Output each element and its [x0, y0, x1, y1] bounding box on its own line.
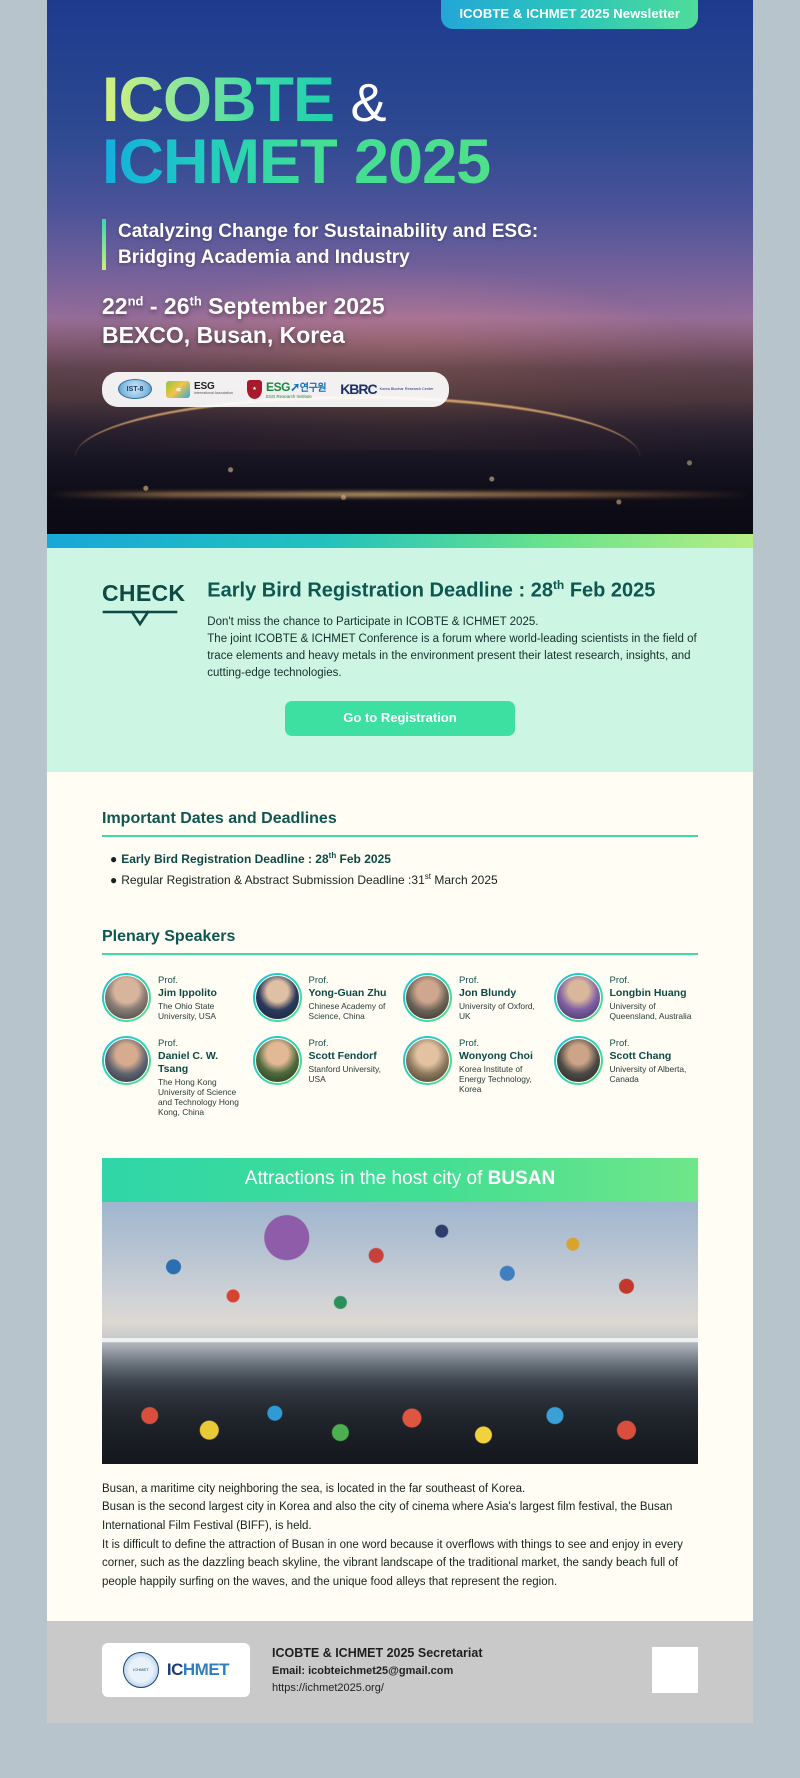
- kbrc-logo: KBRC Korea Biochar Research Center: [340, 381, 433, 397]
- ist-8-logo-mark: IST-8: [118, 379, 152, 399]
- kbrc-sub: Korea Biochar Research Center: [380, 387, 434, 392]
- hero-title-ampersand: &: [351, 73, 386, 133]
- hero-date-venue: 22nd - 26th September 2025 BEXCO, Busan,…: [102, 292, 753, 350]
- speaker-prefix: Prof.: [158, 1038, 247, 1050]
- speaker-prefix: Prof.: [610, 975, 699, 987]
- hero-title-line2: ICHMET 2025: [102, 132, 753, 194]
- attractions-paragraph: Busan, a maritime city neighboring the s…: [102, 1464, 698, 1592]
- busan-festival-photo: [102, 1202, 698, 1464]
- hero-title-icobte: ICOBTE: [102, 65, 334, 135]
- plenary-speakers-heading: Plenary Speakers: [102, 928, 698, 955]
- date-item-tail: March 2025: [431, 873, 498, 887]
- esg-association-swoosh-icon: ∝: [166, 381, 190, 398]
- early-bird-deadline-title: Early Bird Registration Deadline : 28th …: [207, 578, 698, 603]
- speaker-affiliation: University of Oxford, UK: [459, 1001, 548, 1022]
- check-body-line2: The joint ICOBTE & ICHMET Conference is …: [207, 631, 698, 683]
- bullet-icon: ●: [110, 852, 117, 866]
- hero-content: ICOBTE & ICHMET 2025 Catalyzing Change f…: [47, 0, 753, 407]
- ichmet-seal-icon: ICHMET: [123, 1652, 159, 1688]
- avatar: [554, 1036, 603, 1085]
- speaker-card[interactable]: Prof. Scott Fendorf Stanford University,…: [253, 1036, 398, 1117]
- check-row: CHECK Early Bird Registration Deadline :…: [102, 578, 698, 683]
- speaker-name: Daniel C. W. Tsang: [158, 1050, 247, 1076]
- go-to-registration-button[interactable]: Go to Registration: [285, 701, 515, 736]
- important-dates-heading: Important Dates and Deadlines: [102, 810, 698, 837]
- attractions-line3: It is difficult to define the attraction…: [102, 1536, 698, 1592]
- speaker-info: Prof. Scott Chang University of Alberta,…: [610, 1036, 699, 1084]
- check-tick-icon: [102, 609, 178, 627]
- avatar: [102, 1036, 151, 1085]
- hero-date-end: September 2025: [202, 293, 385, 319]
- early-bird-title-tail: Feb 2025: [564, 580, 655, 602]
- hero-title-year: 2025: [354, 127, 490, 197]
- secretariat-website[interactable]: https://ichmet2025.org/: [272, 1680, 630, 1697]
- date-item-tail: Feb 2025: [336, 852, 391, 866]
- attractions-section: Attractions in the host city of BUSAN Bu…: [47, 1158, 753, 1592]
- speaker-affiliation: The Hong Kong University of Science and …: [158, 1077, 247, 1118]
- speaker-name: Longbin Huang: [610, 987, 699, 1000]
- hero-title-ichmet: ICHMET: [102, 127, 337, 197]
- check-label: CHECK: [102, 580, 185, 607]
- speaker-name: Jon Blundy: [459, 987, 548, 1000]
- esgri-sub: ESG Research Institute: [266, 395, 326, 400]
- speaker-card[interactable]: Prof. Wonyong Choi Korea Institute of En…: [403, 1036, 548, 1117]
- check-marker: CHECK: [102, 578, 185, 683]
- speakers-grid: Prof. Jim Ippolito The Ohio State Univer…: [102, 973, 698, 1117]
- avatar: [403, 973, 452, 1022]
- speaker-card[interactable]: Prof. Daniel C. W. Tsang The Hong Kong U…: [102, 1036, 247, 1117]
- footer-contact-info: ICOBTE & ICHMET 2025 Secretariat Email: …: [272, 1644, 630, 1696]
- hero-title-line1: ICOBTE &: [102, 70, 753, 132]
- speaker-card[interactable]: Prof. Jim Ippolito The Ohio State Univer…: [102, 973, 247, 1022]
- avatar: [554, 973, 603, 1022]
- speaker-name: Jim Ippolito: [158, 987, 247, 1000]
- hero-date-start: 22: [102, 293, 128, 319]
- speaker-name: Scott Chang: [610, 1050, 699, 1063]
- attractions-heading-city: BUSAN: [488, 1168, 556, 1189]
- speaker-info: Prof. Jon Blundy University of Oxford, U…: [459, 973, 548, 1021]
- hero-date-sup2: th: [190, 293, 202, 308]
- speaker-affiliation: Chinese Academy of Science, China: [309, 1001, 398, 1022]
- speaker-prefix: Prof.: [309, 975, 398, 987]
- important-dates-list: ●Early Bird Registration Deadline : 28th…: [102, 849, 698, 891]
- hero-gradient-divider: [47, 534, 753, 548]
- bridge-line: [102, 1338, 698, 1342]
- speaker-affiliation: University of Alberta, Canada: [610, 1064, 699, 1085]
- hero-date-mid: - 26: [143, 293, 189, 319]
- hero-tagline-line1: Catalyzing Change for Sustainability and…: [118, 219, 753, 244]
- newsletter-tab-label: ICOBTE & ICHMET 2025 Newsletter: [441, 0, 698, 29]
- secretariat-email: Email: icobteichmet25@gmail.com: [272, 1663, 630, 1680]
- avatar: [253, 973, 302, 1022]
- speaker-info: Prof. Daniel C. W. Tsang The Hong Kong U…: [158, 1036, 247, 1117]
- hero-tagline: Catalyzing Change for Sustainability and…: [102, 219, 753, 269]
- footer-logo: ICHMET ICHMET: [102, 1643, 250, 1697]
- newsletter-page: ICOBTE & ICHMET 2025 Newsletter ICOBTE &…: [47, 0, 753, 1723]
- ichmet-wordmark-hmet: HMET: [183, 1660, 229, 1679]
- attractions-heading: Attractions in the host city of BUSAN: [102, 1158, 698, 1202]
- secretariat-label: ICOBTE & ICHMET 2025 Secretariat: [272, 1644, 630, 1663]
- ist-8-logo: IST-8: [118, 379, 152, 399]
- speaker-info: Prof. Longbin Huang University of Queens…: [610, 973, 699, 1021]
- check-body-line1: Don't miss the chance to Participate in …: [207, 614, 698, 631]
- speaker-prefix: Prof.: [309, 1038, 398, 1050]
- speaker-affiliation: The Ohio State University, USA: [158, 1001, 247, 1022]
- important-dates-section: Important Dates and Deadlines ●Early Bir…: [47, 810, 753, 891]
- esg-association-logo: ∝ ESG International Association: [166, 381, 233, 398]
- hero-date: 22nd - 26th September 2025: [102, 292, 753, 321]
- avatar: [253, 1036, 302, 1085]
- speaker-info: Prof. Jim Ippolito The Ohio State Univer…: [158, 973, 247, 1021]
- esgri-title: ESG➚연구원: [266, 380, 326, 394]
- early-bird-title-main: Early Bird Registration Deadline : 28: [207, 580, 553, 602]
- speaker-affiliation: Stanford University, USA: [309, 1064, 398, 1085]
- esgri-korean: 연구원: [300, 383, 326, 394]
- sponsor-logo-bar: IST-8 ∝ ESG International Association ★ …: [102, 372, 449, 407]
- check-underline-icon: [102, 609, 185, 632]
- date-item-main: Early Bird Registration Deadline : 28: [121, 852, 328, 866]
- esg-association-sub: International Association: [194, 392, 233, 396]
- esg-association-text: ESG International Association: [194, 382, 233, 396]
- attractions-heading-normal: Attractions in the host city of: [245, 1168, 488, 1189]
- ichmet-wordmark-ic: IC: [167, 1660, 183, 1679]
- shield-icon: ★: [247, 380, 262, 399]
- hero-date-sup1: nd: [128, 293, 144, 308]
- avatar: [403, 1036, 452, 1085]
- speaker-card[interactable]: Prof. Yong-Guan Zhu Chinese Academy of S…: [253, 973, 398, 1022]
- esg-research-institute-logo: ★ ESG➚연구원 ESG Research Institute: [247, 379, 326, 400]
- speaker-prefix: Prof.: [610, 1038, 699, 1050]
- plenary-speakers-section: Plenary Speakers Prof. Jim Ippolito The …: [47, 928, 753, 1117]
- speaker-name: Scott Fendorf: [309, 1050, 398, 1063]
- speaker-name: Yong-Guan Zhu: [309, 987, 398, 1000]
- speaker-prefix: Prof.: [459, 975, 548, 987]
- attractions-line1: Busan, a maritime city neighboring the s…: [102, 1480, 698, 1499]
- speaker-affiliation: Korea Institute of Energy Technology, Ko…: [459, 1064, 548, 1095]
- attractions-line2: Busan is the second largest city in Kore…: [102, 1498, 698, 1535]
- early-bird-band: CHECK Early Bird Registration Deadline :…: [47, 548, 753, 772]
- footer: ICHMET ICHMET ICOBTE & ICHMET 2025 Secre…: [47, 1621, 753, 1723]
- qr-code-icon[interactable]: [652, 1647, 698, 1693]
- speaker-card[interactable]: Prof. Scott Chang University of Alberta,…: [554, 1036, 699, 1117]
- speaker-prefix: Prof.: [459, 1038, 548, 1050]
- date-item-main: Regular Registration & Abstract Submissi…: [121, 873, 425, 887]
- hero-venue: BEXCO, Busan, Korea: [102, 321, 753, 350]
- speaker-info: Prof. Yong-Guan Zhu Chinese Academy of S…: [309, 973, 398, 1021]
- ichmet-wordmark: ICHMET: [167, 1660, 229, 1680]
- speaker-info: Prof. Scott Fendorf Stanford University,…: [309, 1036, 398, 1084]
- list-item: ●Regular Registration & Abstract Submiss…: [110, 870, 698, 891]
- hero-tagline-line2: Bridging Academia and Industry: [118, 245, 753, 270]
- hero-banner: ICOBTE & ICHMET 2025 Newsletter ICOBTE &…: [47, 0, 753, 548]
- bullet-icon: ●: [110, 873, 117, 887]
- kbrc-title: KBRC: [340, 381, 376, 397]
- speaker-prefix: Prof.: [158, 975, 247, 987]
- early-bird-title-sup: th: [553, 578, 564, 592]
- avatar: [102, 973, 151, 1022]
- check-body: Don't miss the chance to Participate in …: [207, 614, 698, 683]
- speaker-info: Prof. Wonyong Choi Korea Institute of En…: [459, 1036, 548, 1094]
- esg-research-institute-text: ESG➚연구원 ESG Research Institute: [266, 379, 326, 400]
- speaker-card[interactable]: Prof. Jon Blundy University of Oxford, U…: [403, 973, 548, 1022]
- list-item: ●Early Bird Registration Deadline : 28th…: [110, 849, 698, 870]
- check-content: Early Bird Registration Deadline : 28th …: [207, 578, 698, 683]
- crowd-overlay: [102, 1343, 698, 1464]
- speaker-affiliation: University of Queensland, Australia: [610, 1001, 699, 1022]
- speaker-card[interactable]: Prof. Longbin Huang University of Queens…: [554, 973, 699, 1022]
- speaker-name: Wonyong Choi: [459, 1050, 548, 1063]
